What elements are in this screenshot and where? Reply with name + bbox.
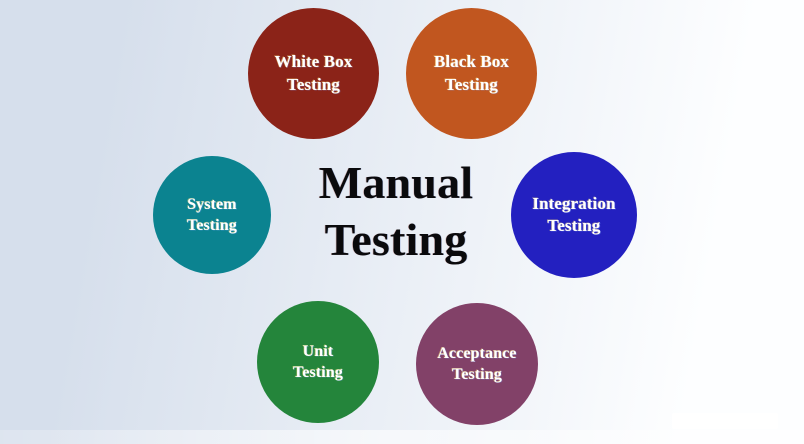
diagram-center-title: Manual Testing [298,155,494,268]
node-label-line-1: Black Box [412,51,531,73]
node-label-line-2: Testing [517,215,631,237]
node-unit-testing[interactable]: Unit Testing [257,301,379,423]
node-acceptance-testing-label: Acceptance Testing [416,343,538,385]
node-label-line-1: System [159,194,265,215]
node-white-box-testing[interactable]: White Box Testing [248,8,379,139]
manual-testing-diagram: Manual Testing White Box Testing Black B… [0,0,804,444]
node-label-line-2: Testing [159,215,265,236]
node-label-line-1: Acceptance [422,343,532,364]
bottom-edge-artifact [0,430,804,444]
node-label-line-2: Testing [412,74,531,96]
node-label-line-1: Integration [517,193,631,215]
node-unit-testing-label: Unit Testing [257,341,379,383]
node-black-box-testing[interactable]: Black Box Testing [406,8,537,139]
corner-watermark-artifact [672,413,778,429]
node-label-line-2: Testing [422,364,532,385]
node-black-box-testing-label: Black Box Testing [406,51,537,96]
node-acceptance-testing[interactable]: Acceptance Testing [416,303,538,425]
node-system-testing[interactable]: System Testing [153,156,271,274]
node-white-box-testing-label: White Box Testing [248,51,379,96]
node-label-line-1: White Box [254,51,373,73]
node-integration-testing-label: Integration Testing [511,193,637,238]
node-system-testing-label: System Testing [153,194,271,236]
center-title-line-1: Manual [298,155,494,212]
node-label-line-1: Unit [263,341,373,362]
node-integration-testing[interactable]: Integration Testing [511,152,637,278]
center-title-line-2: Testing [298,212,494,269]
node-label-line-2: Testing [263,362,373,383]
node-label-line-2: Testing [254,74,373,96]
